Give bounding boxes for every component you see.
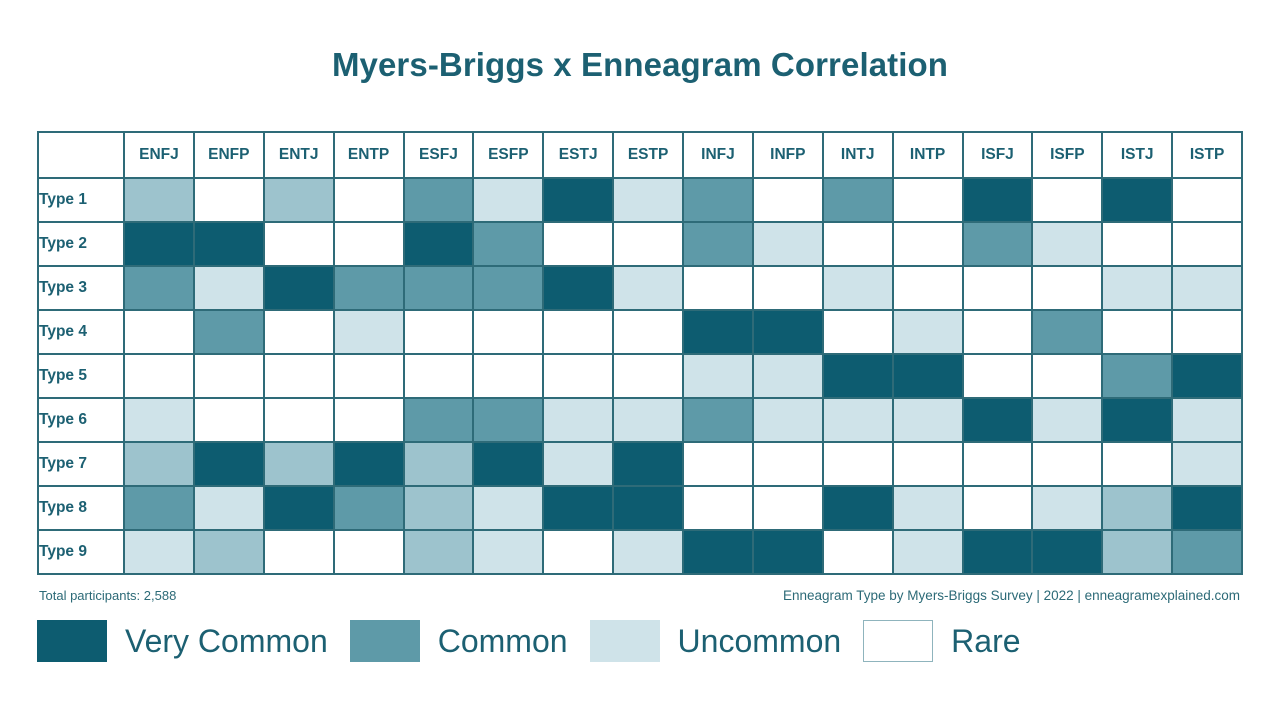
row-header-type-1: Type 1 (39, 179, 123, 221)
row-header-type-2: Type 2 (39, 223, 123, 265)
heatmap-cell (195, 267, 263, 309)
heatmap-cell (964, 443, 1032, 485)
legend-swatch-very (37, 620, 107, 662)
heatmap-cell (195, 443, 263, 485)
heatmap-cell (614, 399, 682, 441)
heatmap-cell (474, 311, 542, 353)
heatmap-cell (964, 179, 1032, 221)
table-row: Type 5 (39, 355, 1241, 397)
heatmap-cell (474, 355, 542, 397)
legend-item-very: Very Common (37, 620, 350, 662)
heatmap-body: Type 1Type 2Type 3Type 4Type 5Type 6Type… (39, 179, 1241, 573)
heatmap-cell (405, 223, 473, 265)
heatmap-cell (754, 267, 822, 309)
column-header-entp: ENTP (335, 133, 403, 177)
heatmap-cell (1173, 179, 1241, 221)
heatmap-cell (335, 355, 403, 397)
heatmap-cell (754, 355, 822, 397)
heatmap-cell (405, 399, 473, 441)
column-header-isfj: ISFJ (964, 133, 1032, 177)
heatmap-cell (265, 267, 333, 309)
legend: Very CommonCommonUncommonRare (37, 620, 1243, 662)
heatmap-cell (1173, 399, 1241, 441)
heatmap-cell (195, 223, 263, 265)
column-header-esfj: ESFJ (405, 133, 473, 177)
heatmap-cell (1103, 223, 1171, 265)
heatmap-cell (614, 311, 682, 353)
heatmap-cell (335, 531, 403, 573)
heatmap-cell (125, 267, 193, 309)
heatmap-cell (754, 399, 822, 441)
heatmap-cell (894, 179, 962, 221)
heatmap-cell (195, 179, 263, 221)
column-header-esfp: ESFP (474, 133, 542, 177)
heatmap-cell (824, 443, 892, 485)
heatmap-cell (125, 223, 193, 265)
heatmap-cell (964, 311, 1032, 353)
heatmap-cell (265, 487, 333, 529)
heatmap-cell (684, 531, 752, 573)
heatmap-cell (544, 267, 612, 309)
column-header-isfp: ISFP (1033, 133, 1101, 177)
heatmap-cell (195, 311, 263, 353)
heatmap-cell (754, 179, 822, 221)
heatmap-cell (964, 223, 1032, 265)
table-row: Type 1 (39, 179, 1241, 221)
participants-note: Total participants: 2,588 (39, 588, 176, 603)
heatmap-cell (824, 311, 892, 353)
heatmap-cell (824, 179, 892, 221)
column-header-entj: ENTJ (265, 133, 333, 177)
heatmap-cell (964, 355, 1032, 397)
heatmap-cell (964, 399, 1032, 441)
page-title: Myers-Briggs x Enneagram Correlation (0, 46, 1280, 84)
heatmap-cell (125, 179, 193, 221)
heatmap-cell (684, 443, 752, 485)
row-header-type-3: Type 3 (39, 267, 123, 309)
heatmap-cell (1033, 223, 1101, 265)
heatmap-cell (754, 443, 822, 485)
heatmap-table: ENFJENFPENTJENTPESFJESFPESTJESTPINFJINFP… (37, 131, 1243, 575)
heatmap-cell (1033, 267, 1101, 309)
heatmap-cell (265, 355, 333, 397)
heatmap-cell (474, 223, 542, 265)
heatmap-cell (614, 223, 682, 265)
heatmap-cell (1173, 355, 1241, 397)
heatmap-cell (614, 531, 682, 573)
heatmap-cell (335, 443, 403, 485)
heatmap-cell (684, 487, 752, 529)
heatmap-cell (754, 487, 822, 529)
legend-label-uncommon: Uncommon (678, 623, 842, 660)
column-header-intp: INTP (894, 133, 962, 177)
heatmap-cell (195, 531, 263, 573)
legend-swatch-uncommon (590, 620, 660, 662)
heatmap-cell (824, 355, 892, 397)
heatmap-cell (754, 311, 822, 353)
heatmap-cell (894, 399, 962, 441)
heatmap-cell (125, 487, 193, 529)
legend-item-common: Common (350, 620, 590, 662)
heatmap-cell (335, 223, 403, 265)
heatmap-cell (544, 531, 612, 573)
heatmap-cell (614, 267, 682, 309)
heatmap-cell (1103, 487, 1171, 529)
heatmap-cell (125, 399, 193, 441)
heatmap-cell (754, 531, 822, 573)
heatmap-cell (195, 355, 263, 397)
heatmap-cell (125, 355, 193, 397)
heatmap-cell (1103, 355, 1171, 397)
heatmap-cell (754, 223, 822, 265)
column-header-istp: ISTP (1173, 133, 1241, 177)
heatmap-cell (684, 179, 752, 221)
heatmap-cell (1103, 399, 1171, 441)
heatmap-cell (474, 399, 542, 441)
heatmap-cell (964, 531, 1032, 573)
heatmap-cell (405, 531, 473, 573)
heatmap-cell (544, 179, 612, 221)
heatmap-cell (824, 487, 892, 529)
heatmap-cell (894, 223, 962, 265)
heatmap-cell (1033, 179, 1101, 221)
heatmap-cell (474, 443, 542, 485)
heatmap-cell (544, 311, 612, 353)
heatmap-cell (1173, 443, 1241, 485)
table-row: Type 8 (39, 487, 1241, 529)
heatmap-cell (544, 443, 612, 485)
heatmap-cell (1173, 531, 1241, 573)
heatmap-cell (964, 267, 1032, 309)
legend-swatch-rare (863, 620, 933, 662)
table-row: Type 3 (39, 267, 1241, 309)
heatmap-cell (1173, 487, 1241, 529)
heatmap-cell (1033, 443, 1101, 485)
heatmap-cell (405, 179, 473, 221)
table-row: Type 4 (39, 311, 1241, 353)
heatmap-cell (1103, 179, 1171, 221)
heatmap-cell (544, 223, 612, 265)
heatmap-cell (544, 487, 612, 529)
heatmap-cell (125, 531, 193, 573)
column-header-estp: ESTP (614, 133, 682, 177)
heatmap-cell (265, 443, 333, 485)
row-header-type-8: Type 8 (39, 487, 123, 529)
heatmap-corner-cell (39, 133, 123, 177)
heatmap-cell (125, 443, 193, 485)
heatmap-cell (405, 355, 473, 397)
heatmap-container: ENFJENFPENTJENTPESFJESFPESTJESTPINFJINFP… (37, 131, 1243, 575)
row-header-type-5: Type 5 (39, 355, 123, 397)
heatmap-cell (684, 223, 752, 265)
heatmap-cell (405, 311, 473, 353)
heatmap-cell (474, 179, 542, 221)
heatmap-cell (894, 311, 962, 353)
heatmap-cell (824, 531, 892, 573)
heatmap-cell (894, 531, 962, 573)
heatmap-header: ENFJENFPENTJENTPESFJESFPESTJESTPINFJINFP… (39, 133, 1241, 177)
heatmap-cell (474, 487, 542, 529)
legend-item-uncommon: Uncommon (590, 620, 864, 662)
heatmap-cell (1033, 531, 1101, 573)
column-header-infp: INFP (754, 133, 822, 177)
heatmap-cell (335, 487, 403, 529)
table-row: Type 7 (39, 443, 1241, 485)
heatmap-cell (614, 179, 682, 221)
legend-swatch-common (350, 620, 420, 662)
heatmap-cell (405, 267, 473, 309)
column-header-infj: INFJ (684, 133, 752, 177)
heatmap-cell (894, 355, 962, 397)
heatmap-cell (684, 399, 752, 441)
heatmap-cell (824, 267, 892, 309)
row-header-type-6: Type 6 (39, 399, 123, 441)
heatmap-cell (1103, 531, 1171, 573)
heatmap-cell (265, 311, 333, 353)
heatmap-cell (894, 443, 962, 485)
infographic-page: Myers-Briggs x Enneagram Correlation ENF… (0, 0, 1280, 720)
heatmap-cell (405, 487, 473, 529)
heatmap-cell (125, 311, 193, 353)
column-header-intj: INTJ (824, 133, 892, 177)
heatmap-cell (265, 223, 333, 265)
table-row: Type 6 (39, 399, 1241, 441)
row-header-type-7: Type 7 (39, 443, 123, 485)
header-row: ENFJENFPENTJENTPESFJESFPESTJESTPINFJINFP… (39, 133, 1241, 177)
heatmap-cell (265, 399, 333, 441)
row-header-type-4: Type 4 (39, 311, 123, 353)
heatmap-cell (335, 311, 403, 353)
column-header-istj: ISTJ (1103, 133, 1171, 177)
table-row: Type 2 (39, 223, 1241, 265)
heatmap-cell (265, 179, 333, 221)
column-header-enfp: ENFP (195, 133, 263, 177)
heatmap-cell (1103, 311, 1171, 353)
heatmap-cell (195, 399, 263, 441)
column-header-estj: ESTJ (544, 133, 612, 177)
heatmap-cell (335, 399, 403, 441)
heatmap-cell (614, 487, 682, 529)
legend-label-common: Common (438, 623, 568, 660)
heatmap-cell (964, 487, 1032, 529)
heatmap-cell (265, 531, 333, 573)
legend-label-very: Very Common (125, 623, 328, 660)
row-header-type-9: Type 9 (39, 531, 123, 573)
heatmap-cell (894, 487, 962, 529)
source-attribution: Enneagram Type by Myers-Briggs Survey | … (783, 588, 1240, 603)
heatmap-cell (684, 267, 752, 309)
heatmap-cell (684, 355, 752, 397)
heatmap-cell (1033, 487, 1101, 529)
heatmap-cell (824, 223, 892, 265)
heatmap-cell (1033, 399, 1101, 441)
heatmap-cell (614, 355, 682, 397)
heatmap-cell (474, 531, 542, 573)
heatmap-cell (614, 443, 682, 485)
heatmap-cell (824, 399, 892, 441)
heatmap-cell (1173, 223, 1241, 265)
column-header-enfj: ENFJ (125, 133, 193, 177)
legend-label-rare: Rare (951, 623, 1020, 660)
heatmap-cell (195, 487, 263, 529)
heatmap-cell (474, 267, 542, 309)
heatmap-cell (335, 179, 403, 221)
heatmap-cell (894, 267, 962, 309)
heatmap-cell (335, 267, 403, 309)
heatmap-cell (544, 399, 612, 441)
heatmap-cell (1173, 311, 1241, 353)
heatmap-cell (544, 355, 612, 397)
heatmap-cell (1103, 267, 1171, 309)
heatmap-cell (1173, 267, 1241, 309)
heatmap-cell (405, 443, 473, 485)
legend-item-rare: Rare (863, 620, 1042, 662)
heatmap-cell (1033, 355, 1101, 397)
heatmap-cell (1033, 311, 1101, 353)
table-row: Type 9 (39, 531, 1241, 573)
heatmap-cell (684, 311, 752, 353)
heatmap-cell (1103, 443, 1171, 485)
